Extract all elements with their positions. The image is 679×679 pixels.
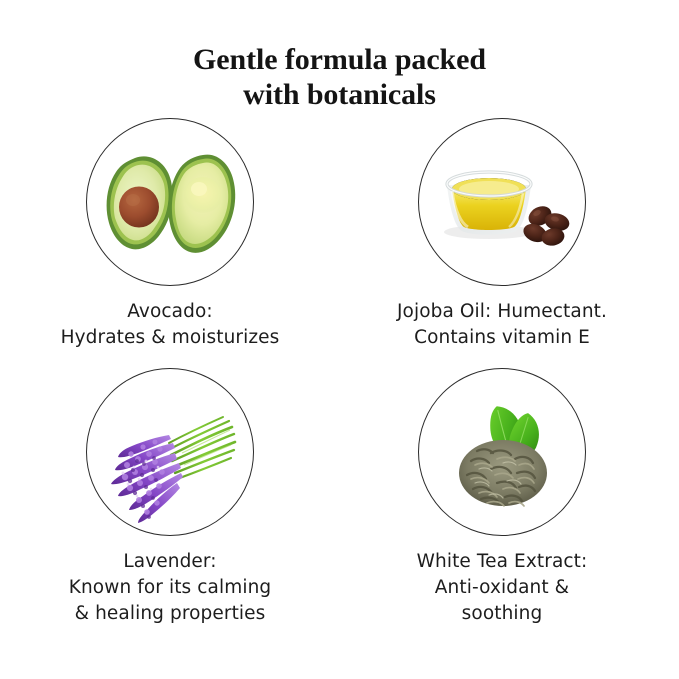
white-tea-image-circle <box>418 368 586 536</box>
avocado-image-circle <box>86 118 254 286</box>
lavender-caption: Lavender: Known for its calming & healin… <box>5 549 335 627</box>
jojoba-oil-caption-line-2: Contains vitamin E <box>337 325 667 351</box>
avocado-half-with-cavity <box>168 155 235 253</box>
ingredient-card-avocado: Avocado: Hydrates & moisturizes <box>5 118 335 351</box>
ingredient-card-jojoba-oil: Jojoba Oil: Humectant. Contains vitamin … <box>337 118 667 351</box>
avocado-caption: Avocado: Hydrates & moisturizes <box>5 299 335 351</box>
lavender-stems <box>169 417 235 479</box>
lavender-caption-line-1: Lavender: <box>5 549 335 575</box>
avocado-halves-image <box>87 119 254 286</box>
jojoba-oil-caption: Jojoba Oil: Humectant. Contains vitamin … <box>337 299 667 351</box>
jojoba-seeds <box>521 202 571 247</box>
page-title: Gentle formula packed with botanicals <box>0 42 679 112</box>
lavender-bouquet-image <box>87 369 254 536</box>
jojoba-oil-caption-line-1: Jojoba Oil: Humectant. <box>337 299 667 325</box>
avocado-caption-line-1: Avocado: <box>5 299 335 325</box>
white-tea-extract-caption: White Tea Extract: Anti-oxidant & soothi… <box>337 549 667 627</box>
glass-bowl <box>447 172 531 235</box>
page-title-line-2: with botanicals <box>0 77 679 112</box>
white-tea-leaves-image <box>419 369 586 536</box>
lavender-flowers <box>111 435 183 523</box>
page-title-line-1: Gentle formula packed <box>0 42 679 77</box>
ingredient-infographic: Gentle formula packed with botanicals <box>0 0 679 679</box>
avocado-caption-line-2: Hydrates & moisturizes <box>5 325 335 351</box>
white-tea-extract-caption-line-2: Anti-oxidant & <box>337 575 667 601</box>
jojoba-image-circle <box>418 118 586 286</box>
jojoba-oil-bowl-image <box>419 119 586 286</box>
ingredient-card-white-tea-extract: White Tea Extract: Anti-oxidant & soothi… <box>337 368 667 627</box>
lavender-caption-line-3: & healing properties <box>5 601 335 627</box>
ingredient-grid: Avocado: Hydrates & moisturizes <box>0 118 679 678</box>
white-tea-extract-caption-line-1: White Tea Extract: <box>337 549 667 575</box>
ingredient-card-lavender: Lavender: Known for its calming & healin… <box>5 368 335 627</box>
lavender-image-circle <box>86 368 254 536</box>
dried-tea-leaves-pile <box>459 440 547 506</box>
lavender-caption-line-2: Known for its calming <box>5 575 335 601</box>
white-tea-extract-caption-line-3: soothing <box>337 601 667 627</box>
avocado-half-with-pit <box>107 156 173 249</box>
